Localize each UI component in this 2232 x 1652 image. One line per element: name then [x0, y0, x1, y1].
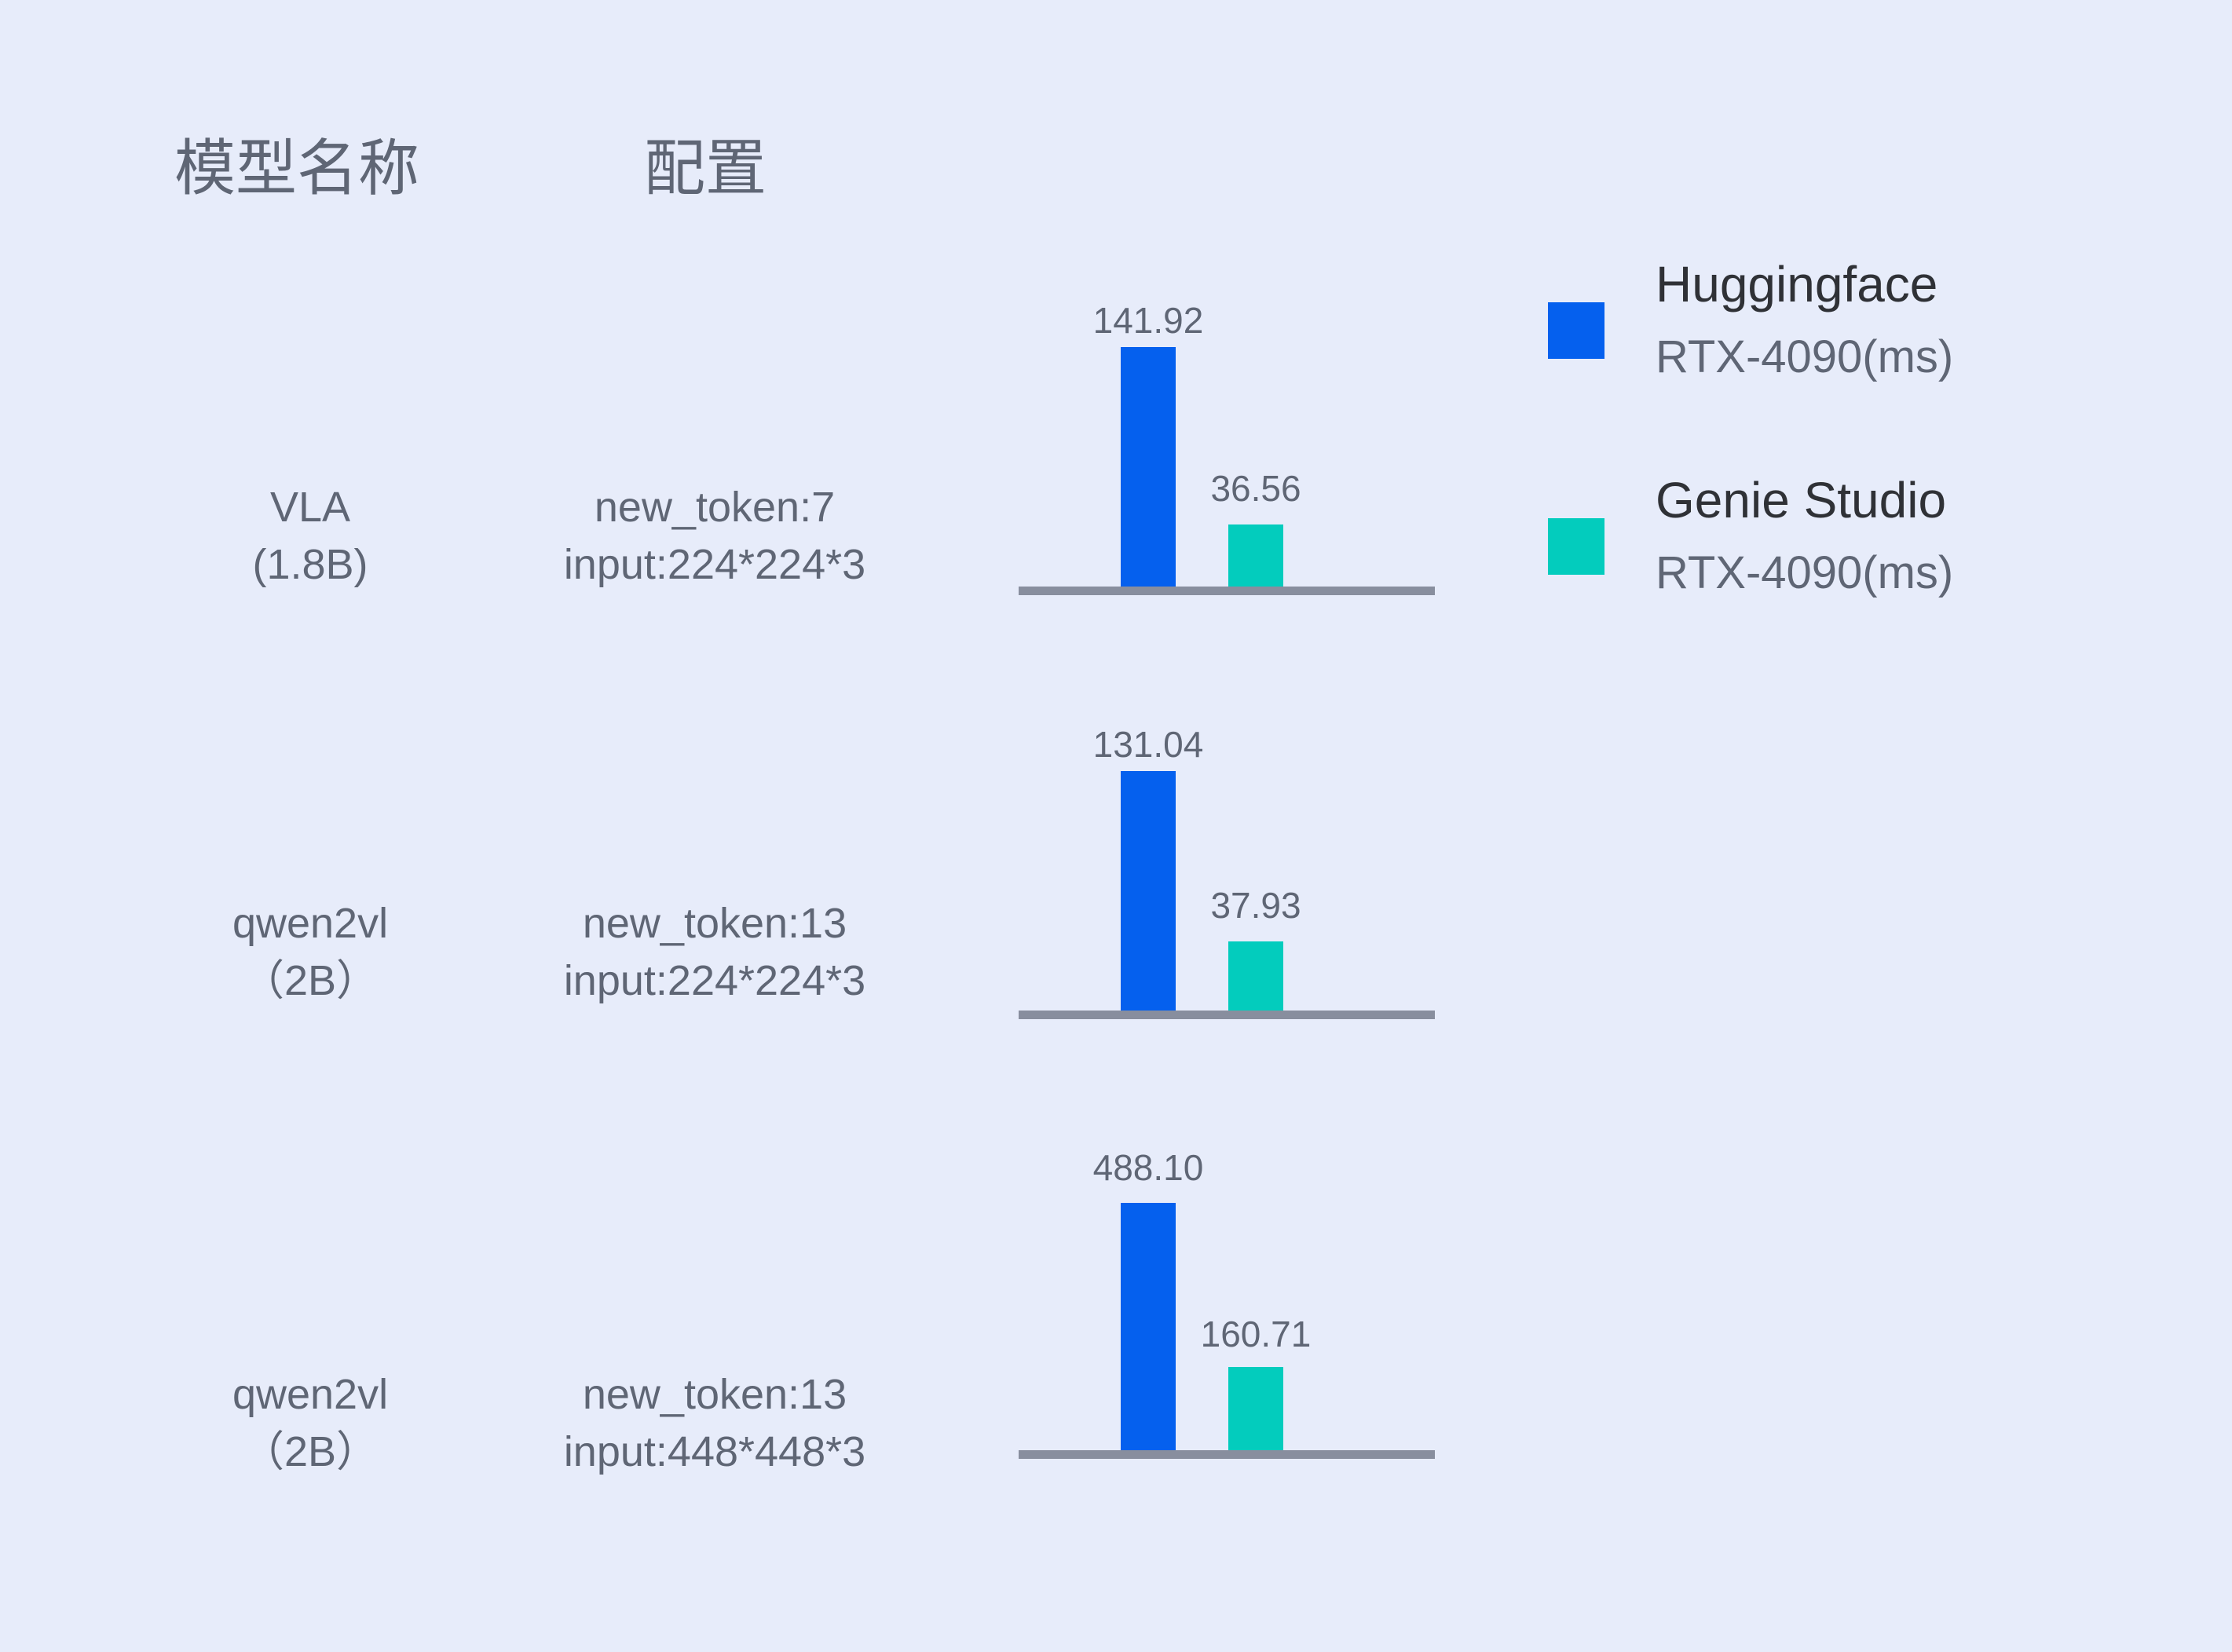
row-bar-chart: 131.04 37.93: [1019, 715, 1435, 1029]
bar-genie-studio[interactable]: [1228, 941, 1283, 1011]
legend-item-subtitle: RTX-4090(ms): [1656, 334, 1953, 380]
model-name-cell: VLA (1.8B): [145, 479, 475, 594]
legend-color-swatch-icon: [1548, 518, 1604, 575]
slide-canvas: 模型名称 配置 VLA (1.8B) new_token:7 input:224…: [0, 0, 2232, 1652]
chart-baseline: [1019, 1450, 1435, 1459]
model-name-line1: qwen2vl: [145, 895, 475, 952]
legend-item-title: Huggingface: [1656, 259, 1937, 309]
bar-huggingface[interactable]: [1121, 347, 1176, 587]
model-name-cell: qwen2vl （2B）: [145, 1366, 475, 1481]
column-header-config: 配置: [644, 137, 767, 199]
legend-color-swatch-icon: [1548, 302, 1604, 359]
bar-value-label-huggingface: 141.92: [1054, 302, 1242, 338]
model-name-line1: VLA: [145, 479, 475, 536]
plot-area: 131.04 37.93: [1019, 705, 1435, 1019]
row-bar-chart: 141.92 36.56: [1019, 291, 1435, 605]
legend-item-subtitle: RTX-4090(ms): [1656, 550, 1953, 596]
bar-value-label-huggingface: 488.10: [1054, 1149, 1242, 1186]
model-name-line2: （2B）: [145, 952, 475, 1010]
model-name-line2: (1.8B): [145, 536, 475, 594]
config-cell: new_token:13 input:448*448*3: [471, 1366, 958, 1481]
config-line2: input:224*224*3: [471, 952, 958, 1010]
config-cell: new_token:13 input:224*224*3: [471, 895, 958, 1010]
model-name-cell: qwen2vl （2B）: [145, 895, 475, 1010]
table-row: qwen2vl （2B） new_token:13 input:224*224*…: [0, 715, 2232, 1060]
bar-value-label-genie-studio: 160.71: [1162, 1316, 1350, 1352]
config-line2: input:448*448*3: [471, 1424, 958, 1481]
bar-value-label-genie-studio: 37.93: [1162, 887, 1350, 923]
config-line1: new_token:7: [471, 479, 958, 536]
table-row: qwen2vl （2B） new_token:13 input:448*448*…: [0, 1131, 2232, 1500]
row-bar-chart: 488.10 160.71: [1019, 1131, 1435, 1468]
column-header-model-name: 模型名称: [174, 137, 419, 199]
config-line2: input:224*224*3: [471, 536, 958, 594]
plot-area: 141.92 36.56: [1019, 281, 1435, 595]
plot-area: 488.10 160.71: [1019, 1121, 1435, 1459]
model-name-line2: （2B）: [145, 1424, 475, 1481]
config-cell: new_token:7 input:224*224*3: [471, 479, 958, 594]
bar-genie-studio[interactable]: [1228, 1367, 1283, 1450]
chart-baseline: [1019, 1011, 1435, 1019]
config-line1: new_token:13: [471, 1366, 958, 1424]
legend-item-title: Genie Studio: [1656, 475, 1946, 525]
config-line1: new_token:13: [471, 895, 958, 952]
bar-genie-studio[interactable]: [1228, 524, 1283, 587]
chart-baseline: [1019, 587, 1435, 595]
model-name-line1: qwen2vl: [145, 1366, 475, 1424]
bar-value-label-genie-studio: 36.56: [1162, 470, 1350, 506]
bar-value-label-huggingface: 131.04: [1054, 726, 1242, 762]
